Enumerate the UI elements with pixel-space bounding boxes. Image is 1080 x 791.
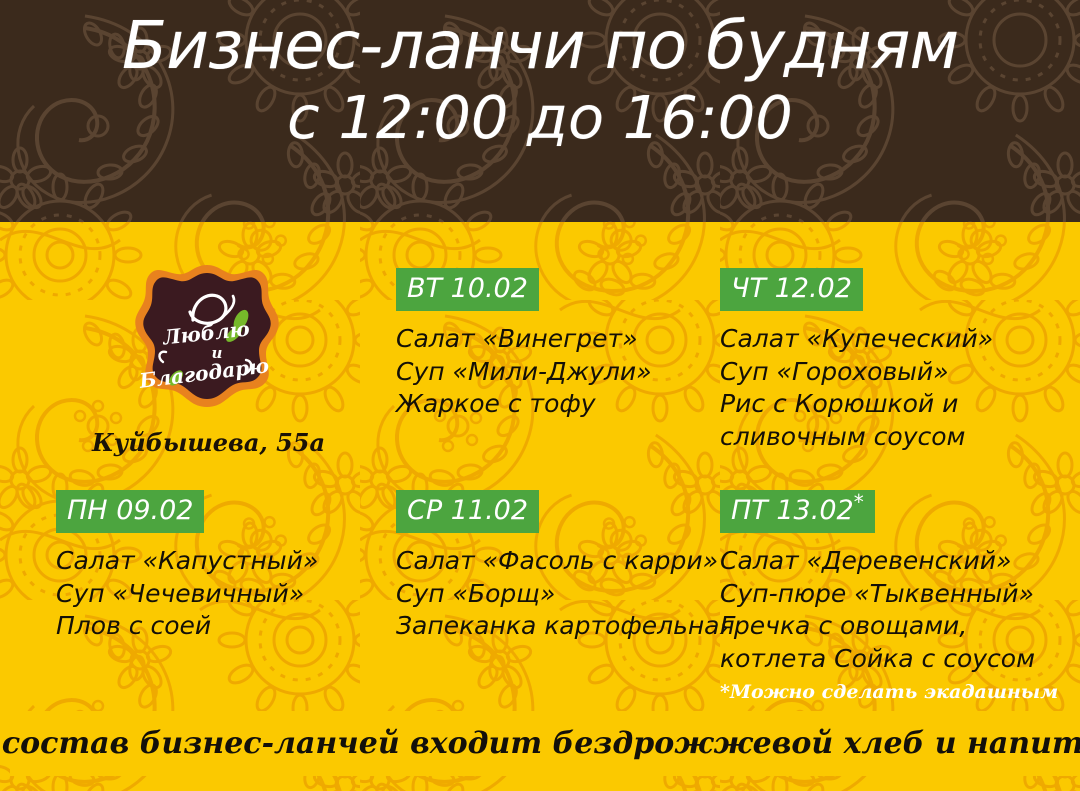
dish-item: Суп-пюре «Тыквенный» — [720, 578, 1058, 611]
dish-item: Суп «Чечевичный» — [56, 578, 318, 611]
dish-item: котлета Сойка с соусом — [720, 643, 1058, 676]
dish-list-wednesday: Салат «Фасоль с карри» Суп «Борщ» Запека… — [396, 545, 735, 643]
dish-item: Плов с соей — [56, 610, 318, 643]
dish-item: Жаркое с тофу — [396, 388, 652, 421]
day-column-wednesday: СР 11.02 Салат «Фасоль с карри» Суп «Бор… — [396, 490, 735, 643]
dish-item: Гречка с овощами, — [720, 610, 1058, 643]
header-title-group: Бизнес-ланчи по будням с 12:00 до 16:00 — [0, 0, 1080, 146]
footer-banner: В состав бизнес-ланчей входит бездрожжев… — [10, 711, 1080, 776]
lunch-menu-poster: Бизнес-ланчи по будням с 12:00 до 16:00 — [0, 0, 1080, 791]
dish-item: Салат «Капустный» — [56, 545, 318, 578]
header-title-line1: Бизнес-ланчи по будням — [0, 14, 1080, 79]
day-column-monday: ПН 09.02 Салат «Капустный» Суп «Чечевичн… — [56, 490, 318, 643]
dish-list-thursday: Салат «Купеческий» Суп «Гороховый» Рис с… — [720, 323, 993, 453]
day-badge-label: ЧТ 12.02 — [731, 273, 852, 304]
asterisk-marker: * — [854, 490, 864, 514]
dish-item: Салат «Винегрет» — [396, 323, 652, 356]
address-text: Куйбышева, 55а — [92, 428, 322, 457]
dish-item: Салат «Фасоль с карри» — [396, 545, 735, 578]
day-badge-tuesday: ВТ 10.02 — [396, 268, 539, 311]
day-badge-label: ПТ 13.02 — [731, 495, 854, 526]
day-badge-monday: ПН 09.02 — [56, 490, 204, 533]
dish-item: Салат «Деревенский» — [720, 545, 1058, 578]
day-badge-label: СР 11.02 — [407, 495, 528, 526]
footer-note: В состав бизнес-ланчей входит бездрожжев… — [0, 726, 1080, 761]
day-column-thursday: ЧТ 12.02 Салат «Купеческий» Суп «Горохов… — [720, 268, 993, 453]
dish-list-monday: Салат «Капустный» Суп «Чечевичный» Плов … — [56, 545, 318, 643]
day-column-tuesday: ВТ 10.02 Салат «Винегрет» Суп «Мили-Джул… — [396, 268, 652, 421]
dish-item: Запеканка картофельная — [396, 610, 735, 643]
day-badge-thursday: ЧТ 12.02 — [720, 268, 863, 311]
dish-item: Суп «Мили-Джули» — [396, 356, 652, 389]
day-badge-friday: ПТ 13.02* — [720, 490, 875, 533]
dish-item: Рис с Корюшкой и — [720, 388, 993, 421]
restaurant-logo-badge: Люблю и Благодарю — [133, 262, 281, 410]
day-badge-label: ПН 09.02 — [67, 495, 193, 526]
brand-block: Люблю и Благодарю Куйбышева, 55а — [92, 262, 322, 457]
dish-item: Салат «Купеческий» — [720, 323, 993, 356]
dish-list-friday: Салат «Деревенский» Суп-пюре «Тыквенный»… — [720, 545, 1058, 703]
header-band: Бизнес-ланчи по будням с 12:00 до 16:00 — [0, 0, 1080, 222]
day-badge-label: ВТ 10.02 — [407, 273, 528, 304]
dish-item: сливочным соусом — [720, 421, 993, 454]
friday-footnote: *Можно сделать экадашным — [720, 681, 1058, 703]
dish-list-tuesday: Салат «Винегрет» Суп «Мили-Джули» Жаркое… — [396, 323, 652, 421]
dish-item: Суп «Гороховый» — [720, 356, 993, 389]
day-badge-wednesday: СР 11.02 — [396, 490, 539, 533]
header-title-line2: с 12:00 до 16:00 — [0, 89, 1080, 147]
day-column-friday: ПТ 13.02* Салат «Деревенский» Суп-пюре «… — [720, 490, 1058, 703]
dish-item: Суп «Борщ» — [396, 578, 735, 611]
